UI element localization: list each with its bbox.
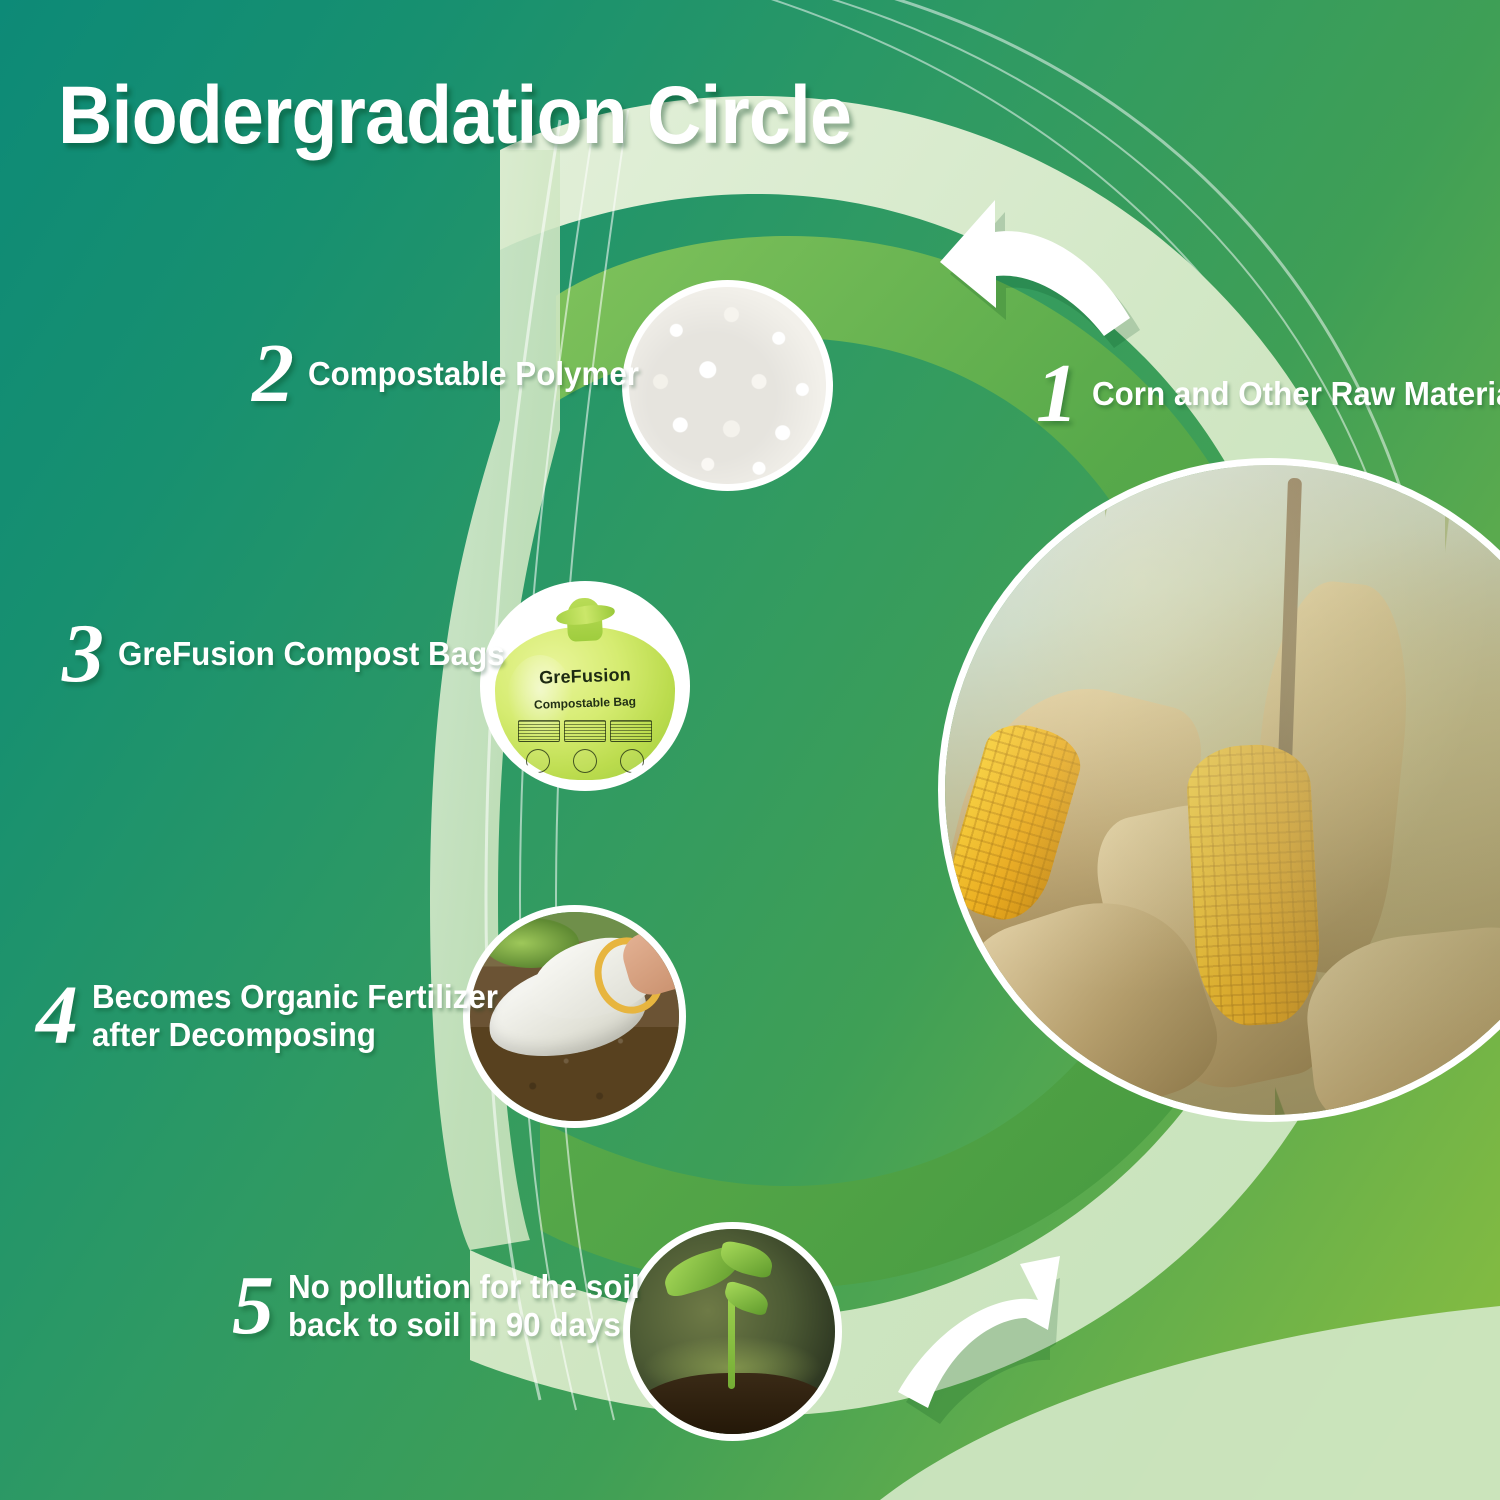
step-2: 2 Compostable Polymer (252, 338, 656, 410)
step-2-label: Compostable Polymer (308, 355, 639, 393)
seedling-photo (630, 1229, 835, 1434)
bag-certification-marks (518, 721, 651, 741)
step-2-line-1: Compostable Polymer (308, 355, 639, 393)
step-5: 5 No pollution for the soil back to soil… (232, 1268, 658, 1345)
step-3-line-1: GreFusion Compost Bags (118, 635, 505, 673)
step-1: 1 Corn and Other Raw Materials (1036, 358, 1500, 430)
step-5-number: 5 (232, 1270, 274, 1342)
step-5-label: No pollution for the soil back to soil i… (288, 1268, 640, 1345)
infographic-canvas: GreFusion Compostable Bag Biodergradatio… (0, 0, 1500, 1500)
step-1-label: Corn and Other Raw Materials (1092, 375, 1500, 413)
polymer-pellets-photo (629, 287, 826, 484)
step-5-line-1: No pollution for the soil (288, 1268, 640, 1306)
step-3-number: 3 (62, 618, 104, 690)
bag-compost-icons (526, 749, 644, 774)
step-1-number: 1 (1036, 358, 1078, 430)
step-3-label: GreFusion Compost Bags (118, 635, 505, 673)
corn-field-photo (945, 465, 1500, 1115)
step-2-number: 2 (252, 338, 294, 410)
step-5-line-2: back to soil in 90 days (288, 1306, 640, 1344)
step-3: 3 GreFusion Compost Bags (62, 618, 525, 690)
step-4-number: 4 (36, 980, 78, 1052)
page-title: Biodergradation Circle (58, 75, 851, 157)
step-4-line-1: Becomes Organic Fertilizer (92, 978, 498, 1016)
step-4: 4 Becomes Organic Fertilizer after Decom… (36, 978, 519, 1055)
step-4-line-2: after Decomposing (92, 1016, 498, 1054)
step-4-label: Becomes Organic Fertilizer after Decompo… (92, 978, 498, 1055)
step-1-line-1: Corn and Other Raw Materials (1092, 375, 1500, 413)
